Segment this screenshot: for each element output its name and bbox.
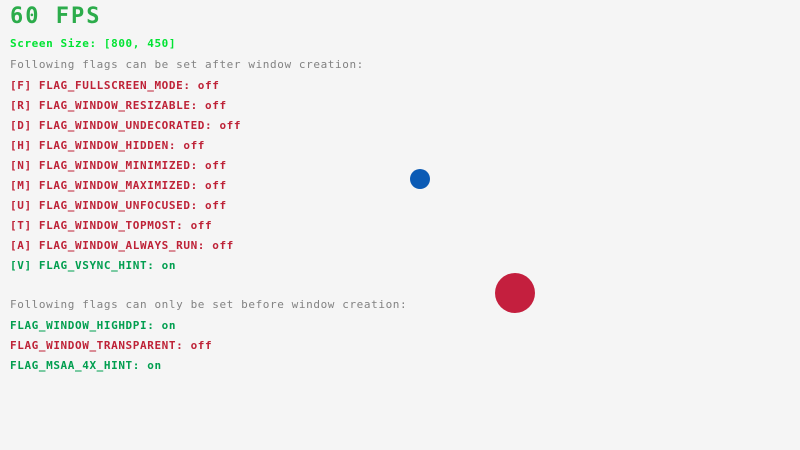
red-ball	[495, 273, 535, 313]
blue-ball	[410, 169, 430, 189]
flag-row-window-topmost[interactable]: [T] FLAG_WINDOW_TOPMOST: off	[10, 220, 212, 231]
flag-row-msaa-4x-hint: FLAG_MSAA_4X_HINT: on	[10, 360, 162, 371]
flag-row-window-resizable[interactable]: [R] FLAG_WINDOW_RESIZABLE: off	[10, 100, 227, 111]
flag-row-vsync-hint[interactable]: [V] FLAG_VSYNC_HINT: on	[10, 260, 176, 271]
section-header-before-creation: Following flags can only be set before w…	[10, 299, 407, 310]
flag-row-window-minimized[interactable]: [N] FLAG_WINDOW_MINIMIZED: off	[10, 160, 227, 171]
flag-row-window-undecorated[interactable]: [D] FLAG_WINDOW_UNDECORATED: off	[10, 120, 241, 131]
flag-row-window-unfocused[interactable]: [U] FLAG_WINDOW_UNFOCUSED: off	[10, 200, 227, 211]
flag-row-window-highdpi: FLAG_WINDOW_HIGHDPI: on	[10, 320, 176, 331]
screen-size-label: Screen Size: [800, 450]	[10, 38, 176, 49]
section-header-after-creation: Following flags can be set after window …	[10, 59, 364, 70]
flag-row-window-maximized[interactable]: [M] FLAG_WINDOW_MAXIMIZED: off	[10, 180, 227, 191]
flag-row-window-transparent: FLAG_WINDOW_TRANSPARENT: off	[10, 340, 212, 351]
raylib-window: 60 FPS Screen Size: [800, 450] Following…	[0, 0, 800, 450]
flag-row-fullscreen-mode[interactable]: [F] FLAG_FULLSCREEN_MODE: off	[10, 80, 219, 91]
flag-row-window-hidden[interactable]: [H] FLAG_WINDOW_HIDDEN: off	[10, 140, 205, 151]
fps-counter: 60 FPS	[10, 6, 101, 28]
flag-row-window-always-run[interactable]: [A] FLAG_WINDOW_ALWAYS_RUN: off	[10, 240, 234, 251]
